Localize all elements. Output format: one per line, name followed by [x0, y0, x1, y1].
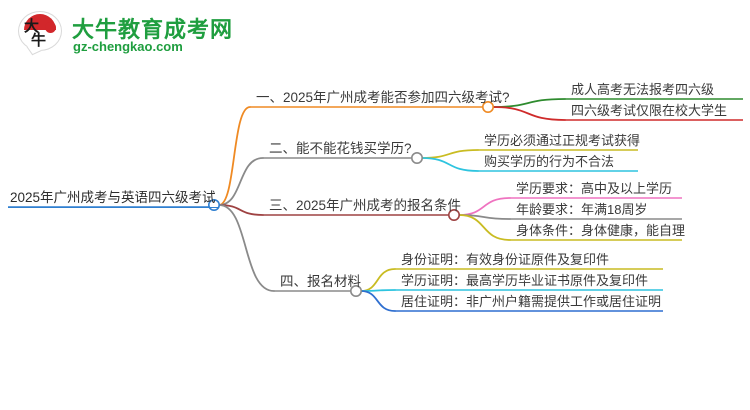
- mindmap-subnode-label-1-1[interactable]: 成人高考无法报考四六级: [569, 82, 716, 99]
- mindmap-connector: [422, 150, 478, 158]
- mindmap-subnode-label-3-3[interactable]: 身体条件：身体健康，能自理: [514, 223, 687, 240]
- mindmap-branch-label-4[interactable]: 四、报名材料: [278, 274, 363, 291]
- mindmap-connector: [361, 291, 395, 311]
- mindmap-subnode-label-1-2[interactable]: 四六级考试仅限在校大学生: [569, 103, 729, 120]
- mindmap-connector: [361, 269, 395, 291]
- mindmap-subnode-label-4-2[interactable]: 学历证明：最高学历毕业证书原件及复印件: [399, 273, 650, 290]
- mindmap-connector: [219, 107, 250, 205]
- mindmap-connector: [219, 205, 274, 291]
- mindmap-subnode-label-2-2[interactable]: 购买学历的行为不合法: [482, 154, 616, 171]
- mindmap-connector: [493, 107, 565, 120]
- mindmap-subnode-label-4-3[interactable]: 居住证明：非广州户籍需提供工作或居住证明: [399, 294, 663, 311]
- mindmap-connector: [422, 158, 478, 171]
- mindmap-subnode-label-3-1[interactable]: 学历要求：高中及以上学历: [514, 181, 674, 198]
- mindmap-subnode-label-2-1[interactable]: 学历必须通过正规考试获得: [482, 133, 642, 150]
- mindmap-root-label[interactable]: 2025年广州成考与英语四六级考试: [8, 190, 218, 208]
- mindmap-branch-label-2[interactable]: 二、能不能花钱买学历?: [267, 141, 414, 158]
- mindmap-branch-label-3[interactable]: 三、2025年广州成考的报名条件: [267, 198, 463, 215]
- mindmap-connector: [459, 198, 510, 215]
- mindmap-branch-label-1[interactable]: 一、2025年广州成考能否参加四六级考试?: [254, 90, 512, 107]
- mindmap-subnode-label-4-1[interactable]: 身份证明：有效身份证原件及复印件: [399, 252, 611, 269]
- mindmap-subnode-label-3-2[interactable]: 年龄要求：年满18周岁: [514, 202, 649, 219]
